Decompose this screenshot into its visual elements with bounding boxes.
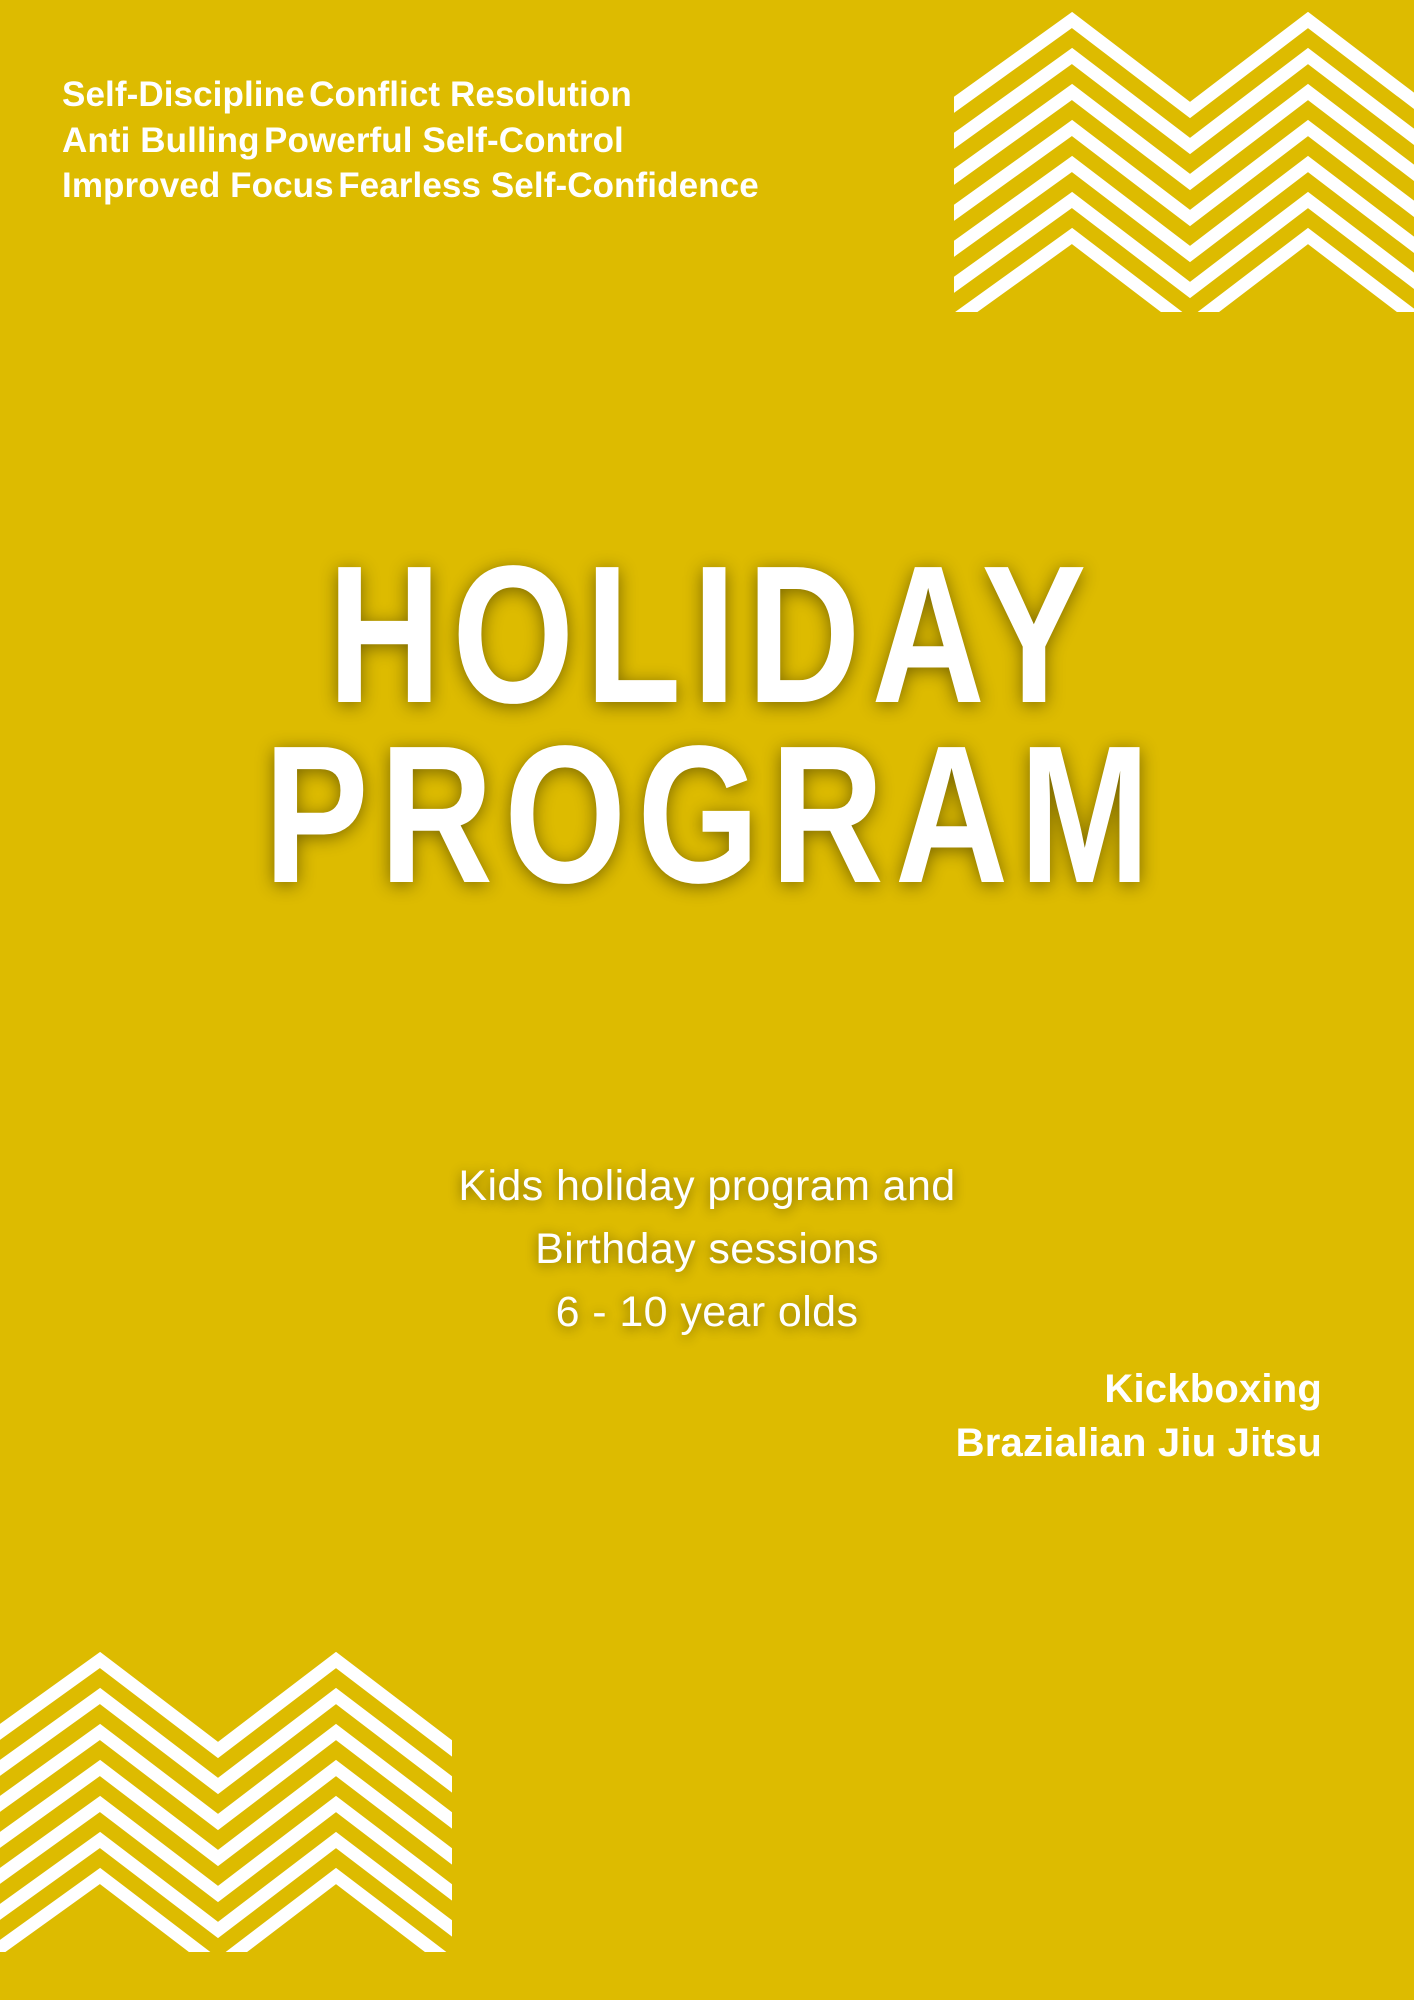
subtitle-line-1: Kids holiday program and [0,1155,1414,1218]
discipline-kickboxing: Kickboxing [956,1362,1322,1416]
benefit-item: Anti Bulling [62,121,260,160]
benefit-item: Improved Focus [62,166,334,205]
title-line-program: PROGRAM [141,725,1272,905]
title-line-holiday: HOLIDAY [141,545,1272,725]
chevron-zigzag-icon-bottom-left [0,1652,452,1952]
benefits-list: Self-Discipline Conflict Resolution Anti… [62,72,762,209]
benefit-item: Self-Discipline [62,75,305,114]
chevron-zigzag-icon-top-right [954,12,1414,312]
poster-subtitle: Kids holiday program and Birthday sessio… [0,1155,1414,1345]
benefit-item: Powerful Self-Control [264,121,624,160]
subtitle-line-2: Birthday sessions [0,1218,1414,1281]
benefit-item: Conflict Resolution [309,75,632,114]
discipline-bjj: Brazialian Jiu Jitsu [956,1416,1322,1470]
poster-canvas: Self-Discipline Conflict Resolution Anti… [0,0,1414,2000]
disciplines-list: Kickboxing Brazialian Jiu Jitsu [956,1362,1322,1470]
poster-title: HOLIDAY PROGRAM [0,545,1414,906]
subtitle-line-3: 6 - 10 year olds [0,1281,1414,1344]
benefit-item: Fearless Self-Confidence [338,166,759,205]
